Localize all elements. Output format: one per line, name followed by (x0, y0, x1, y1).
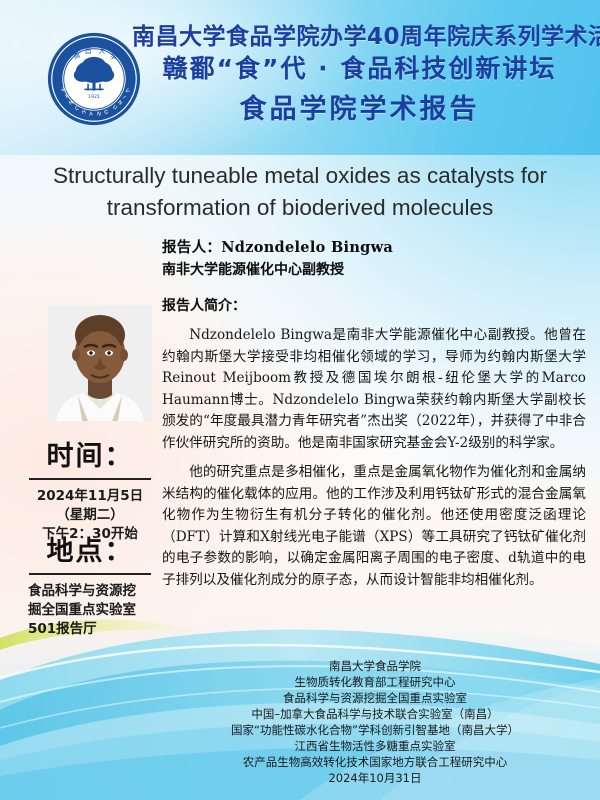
header-title-group: 南昌大学食品学院办学40周年院庆系列学术活动 赣鄱“食”代 · 食品科技创新讲坛… (132, 22, 587, 130)
speaker-affiliation: 南非大学能源催化中心副教授 (162, 259, 586, 282)
bio-heading: 报告人简介： (162, 295, 586, 317)
footer-organizers: 南昌大学食品学院 生物质转化教育部工程研究中心 食品科学与资源挖掘全国重点实验室… (160, 658, 590, 786)
svg-text:1921: 1921 (88, 94, 100, 100)
location-line-3: 501报告厅 (28, 620, 152, 639)
time-block: 时间： 2024年11月5日 （星期二） 下午2：30开始 (0, 440, 180, 544)
bio-paragraph-2: 他的研究重点是多相催化，重点是金属氧化物作为催化剂和金属纳米结构的催化载体的应用… (162, 462, 586, 591)
svg-text:大: 大 (98, 46, 105, 55)
speaker-photo (48, 305, 152, 421)
location-value: 食品科学与资源挖 掘全国重点实验室 501报告厅 (28, 582, 152, 639)
english-title-line-1: Structurally tuneable metal oxides as ca… (18, 160, 582, 192)
location-block: 地点： 食品科学与资源挖 掘全国重点实验室 501报告厅 (0, 535, 180, 639)
footer-line: 生物质转化教育部工程研究中心 (160, 674, 590, 690)
header-line-2: 赣鄱“食”代 · 食品科技创新讲坛 (132, 52, 587, 85)
bio-paragraph-1: Ndzondelelo Bingwa是南非大学能源催化中心副教授。他曾在约翰内斯… (162, 325, 586, 454)
header-banner: 南 昌 大 学 1921 N A N C H A N G U N I V (0, 0, 600, 155)
poster-canvas: 南 昌 大 学 1921 N A N C H A N G U N I V (0, 0, 600, 800)
footer-line: 南昌大学食品学院 (160, 658, 590, 674)
location-divider (29, 573, 151, 575)
location-line-2: 掘全国重点实验室 (28, 601, 152, 620)
footer-line: 江西省生物活性多糖重点实验室 (160, 738, 590, 754)
location-line-1: 食品科学与资源挖 (28, 582, 152, 601)
speaker-details: 报告人：Ndzondelelo Bingwa 南非大学能源催化中心副教授 报告人… (162, 236, 586, 591)
english-title-line-2: transformation of bioderived molecules (18, 192, 582, 224)
header-line-3: 食品学院学术报告 (132, 90, 587, 130)
time-line-1: 2024年11月5日 (0, 487, 180, 506)
footer-date: 2024年10月31日 (160, 770, 590, 786)
svg-text:N: N (97, 111, 102, 117)
location-heading: 地点： (0, 535, 180, 569)
footer-line: 农产品生物高效转化技术国家地方联合工程研究中心 (160, 754, 590, 770)
svg-text:昌: 昌 (85, 47, 92, 55)
nanchang-university-logo-icon: 南 昌 大 学 1921 N A N C H A N G U N I V (46, 31, 142, 127)
speaker-name: 报告人：Ndzondelelo Bingwa (162, 236, 586, 259)
time-heading: 时间： (0, 440, 180, 474)
page-title: Structurally tuneable metal oxides as ca… (18, 160, 582, 224)
time-divider (29, 478, 151, 480)
footer-line: 国家“功能性碳水化合物”学科创新引智基地（南昌大学） (160, 722, 590, 738)
footer-line: 中国–加拿大食品科学与技术联合实验室（南昌） (160, 706, 590, 722)
header-line-1: 南昌大学食品学院办学40周年院庆系列学术活动 (132, 22, 587, 52)
time-line-2: （星期二） (0, 506, 180, 525)
footer-line: 食品科学与资源挖掘全国重点实验室 (160, 690, 590, 706)
